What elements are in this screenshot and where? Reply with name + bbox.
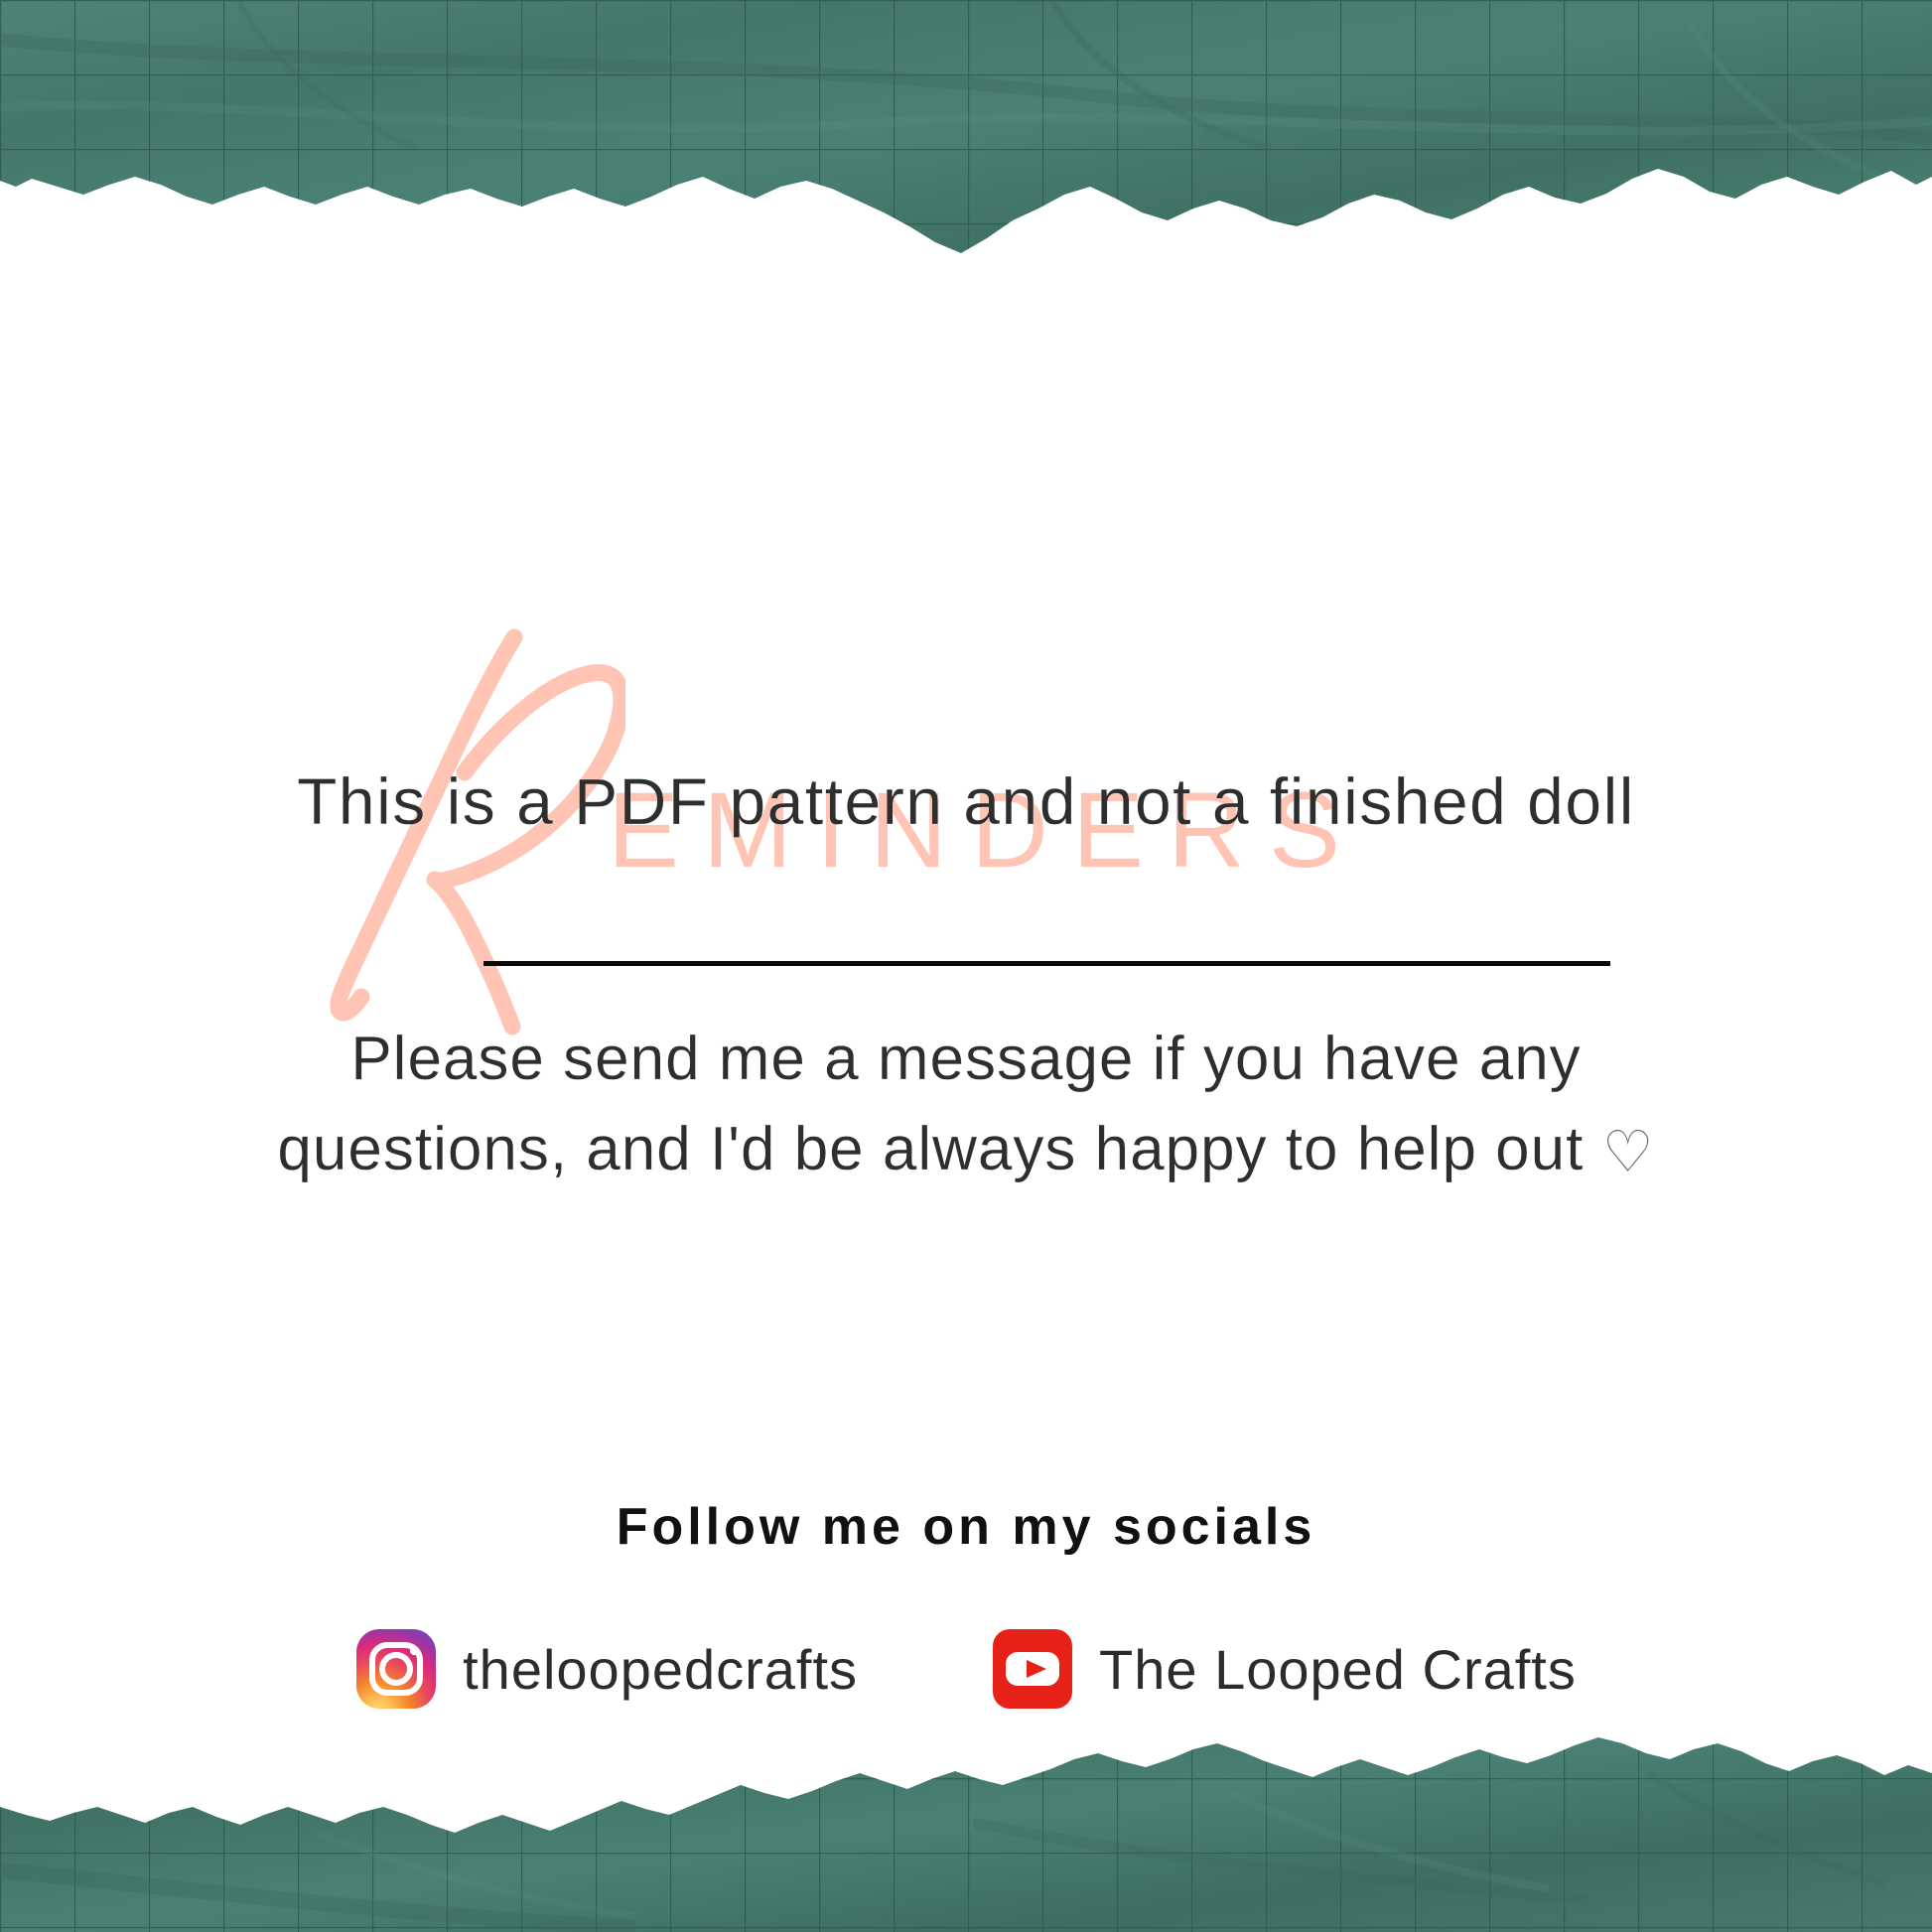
poster-canvas: EMINDERS This is a PDF pattern and not a… [0, 0, 1932, 1932]
reminder-paragraph-2-text: Please send me a message if you have any… [277, 1025, 1584, 1183]
socials-row: theloopedcrafts The Looped Crafts [271, 1628, 1661, 1710]
poster-content: EMINDERS This is a PDF pattern and not a… [0, 0, 1932, 1932]
heart-icon: ♡ [1602, 1120, 1655, 1184]
reminder-paragraph-2: Please send me a message if you have any… [271, 1015, 1661, 1194]
social-link-instagram[interactable]: theloopedcrafts [355, 1628, 858, 1710]
youtube-channel-name: The Looped Crafts [1099, 1637, 1577, 1702]
reminder-paragraph-1: This is a PDF pattern and not a finished… [271, 759, 1661, 845]
social-link-youtube[interactable]: The Looped Crafts [992, 1628, 1577, 1710]
title-divider-rule [483, 961, 1610, 966]
bottom-torn-paper-band [0, 1704, 1932, 1932]
title-block: EMINDERS [0, 298, 1932, 695]
instagram-icon [355, 1628, 437, 1710]
youtube-icon [992, 1628, 1073, 1710]
instagram-handle: theloopedcrafts [463, 1637, 858, 1702]
socials-heading: Follow me on my socials [271, 1497, 1661, 1557]
